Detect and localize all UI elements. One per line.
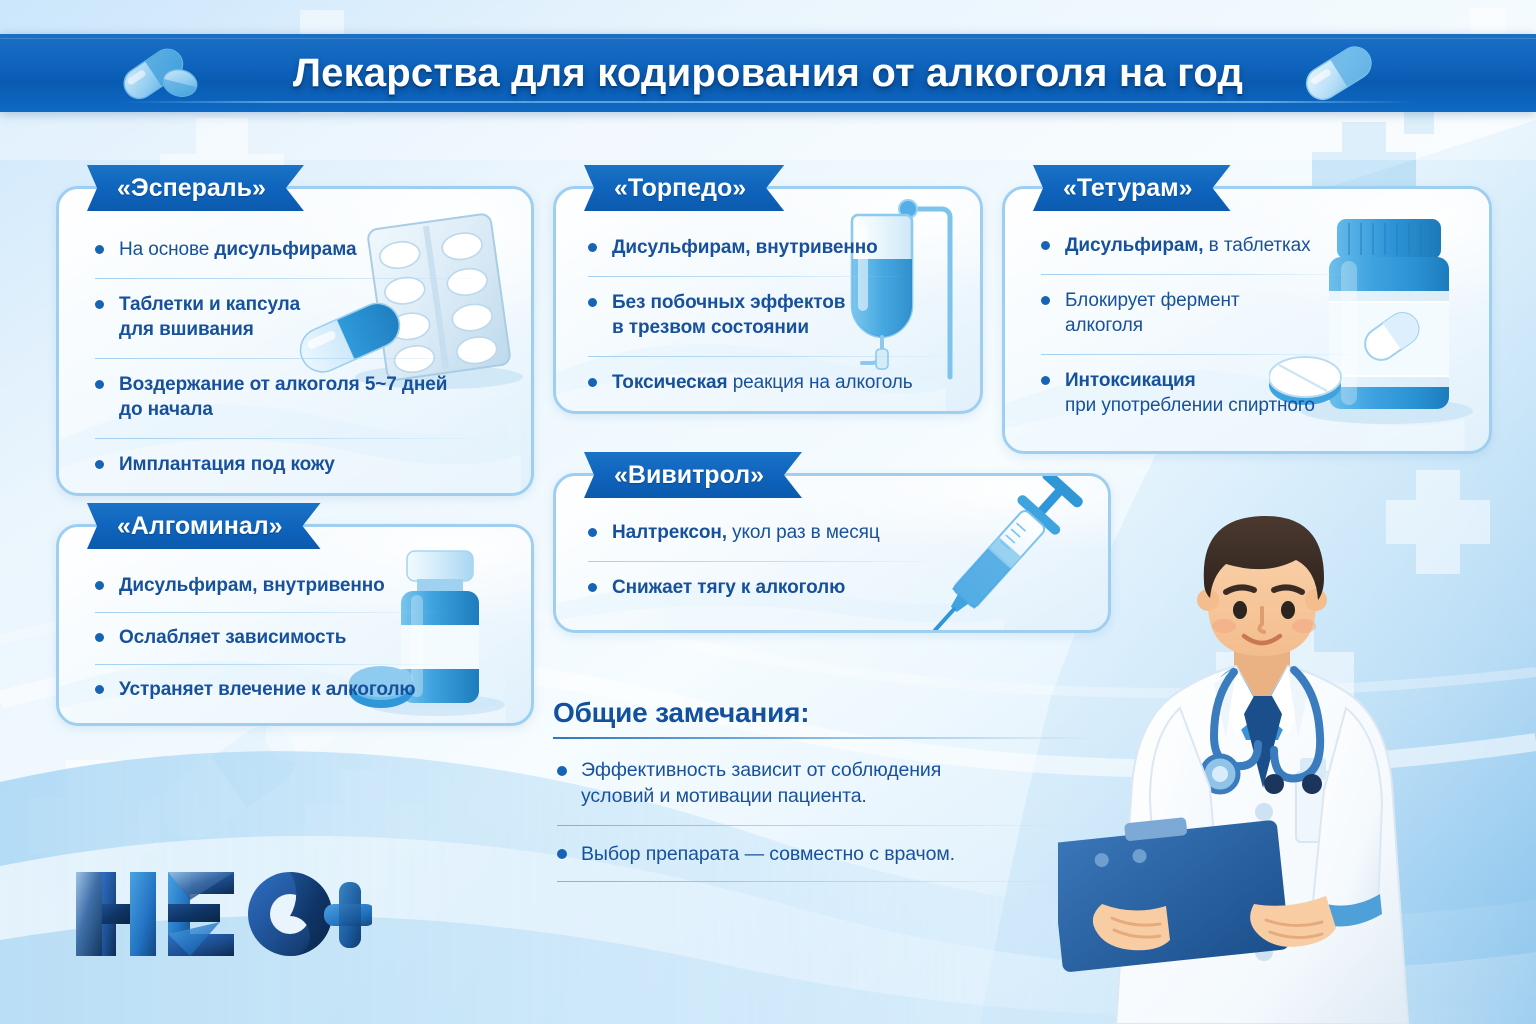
bullet-dot — [95, 581, 104, 590]
card-title-teturam: «Тетурам» — [1033, 165, 1231, 211]
note-line1: Эффективность зависит от соблюдения — [581, 759, 941, 781]
list-item: Налтрексон, укол раз в месяц — [586, 520, 952, 561]
card-title-algominal: «Алгоминал» — [87, 503, 321, 549]
item-line2: алкоголя — [1065, 315, 1143, 336]
list-item: Дисульфирам, в таблетках — [1039, 233, 1369, 274]
neo-plus-logo — [72, 866, 372, 962]
list-item: Дисульфирам, внутривенно — [93, 573, 453, 612]
list-item: Дисульфирам, внутривенно — [586, 235, 916, 276]
card-esperal: «Эспераль» — [56, 186, 534, 496]
notes-list: Эффективность зависит от соблюдения усло… — [553, 757, 1113, 881]
item-tail: Блокирует фермент — [1065, 290, 1240, 311]
item-bold: Дисульфирам, внутривенно — [612, 237, 878, 258]
capsule-pill-icon — [1301, 44, 1381, 102]
item-bold: Дисульфирам, внутривенно — [119, 575, 385, 596]
bullet-dot — [95, 300, 104, 309]
item-lead: На основе — [119, 239, 214, 260]
doctor-with-clipboard-illustration — [1058, 496, 1528, 1024]
card-title-torpedo: «Торпедо» — [584, 165, 784, 211]
bullet-dot — [557, 849, 567, 859]
bullet-dot — [95, 460, 104, 469]
list-item: Ослабляет зависимость — [93, 612, 453, 664]
feature-list-teturam: Дисульфирам, в таблетках Блокирует ферме… — [1039, 233, 1369, 418]
feature-list-vivitrol: Налтрексон, укол раз в месяц Снижает тяг… — [586, 520, 936, 600]
feature-list-algominal: Дисульфирам, внутривенно Ослабляет завис… — [93, 573, 453, 702]
card-vivitrol: «Вивитрол» — [553, 473, 1111, 633]
item-bold: дисульфирама — [214, 239, 356, 260]
item-bold: Имплантация под кожу — [119, 454, 335, 475]
bullet-dot — [95, 685, 104, 694]
note-line1: Выбор препарата — совместно с врачом. — [581, 843, 955, 865]
item-bold-line2: для вшивания — [119, 319, 254, 340]
card-teturam: «Тетурам» — [1002, 186, 1492, 454]
list-item: Выбор препарата — совместно с врачом. — [553, 825, 1113, 881]
item-bold-line2: в трезвом состоянии — [612, 317, 809, 338]
bullet-dot — [588, 378, 597, 387]
item-bold-line2: до начала — [119, 399, 213, 420]
list-item: Интоксикация при употреблении спиртного — [1039, 354, 1425, 418]
list-item: Снижает тягу к алкоголю — [586, 561, 936, 600]
card-torpedo: «Торпедо» — [553, 186, 983, 414]
item-bold: Устраняет влечение к алкоголю — [119, 679, 416, 700]
list-item: Без побочных эффектов в трезвом состояни… — [586, 276, 916, 356]
bullet-dot — [1041, 296, 1050, 305]
item-tail: в таблетках — [1209, 235, 1311, 256]
bullet-dot — [588, 298, 597, 307]
item-bold: Налтрексон, — [612, 522, 732, 543]
card-title-vivitrol: «Вивитрол» — [584, 452, 802, 498]
general-notes-section: Общие замечания: Эффективность зависит о… — [553, 697, 1113, 881]
item-bold: Таблетки и капсула — [119, 294, 300, 315]
feature-list-torpedo: Дисульфирам, внутривенно Без побочных эф… — [586, 235, 916, 395]
notes-divider — [553, 737, 1093, 739]
bullet-dot — [1041, 241, 1050, 250]
list-item: На основе дисульфирама — [93, 237, 497, 278]
item-tail: укол раз в месяц — [732, 522, 880, 543]
bullet-dot — [95, 633, 104, 642]
feature-list-esperal: На основе дисульфирама Таблетки и капсул… — [93, 237, 497, 477]
bullet-dot — [588, 528, 597, 537]
card-algominal: «Алгоминал» — [56, 524, 534, 726]
note-line2: условий и мотивации пациента. — [581, 785, 867, 807]
list-item: Воздержание от алкоголя 5~7 дней до нача… — [93, 358, 497, 438]
list-item: Токсическая реакция на алкоголь — [586, 356, 980, 395]
item-bold: Воздержание от алкоголя 5~7 дней — [119, 374, 447, 395]
infographic-poster: Лекарства для кодирования от алкоголя на… — [0, 0, 1536, 1024]
list-item: Имплантация под кожу — [93, 438, 497, 477]
bullet-dot — [588, 243, 597, 252]
bullet-dot — [557, 766, 567, 776]
item-bold: Ослабляет зависимость — [119, 627, 346, 648]
list-item: Таблетки и капсула для вшивания — [93, 278, 497, 358]
item-bold: Токсическая — [612, 372, 733, 393]
bullet-dot — [1041, 376, 1050, 385]
item-bold: Без побочных эффектов — [612, 292, 845, 313]
item-bold: Дисульфирам, — [1065, 235, 1209, 256]
notes-title: Общие замечания: — [553, 697, 1113, 729]
item-bold: Интоксикация — [1065, 370, 1196, 391]
item-line2: при употреблении спиртного — [1065, 395, 1315, 416]
bullet-dot — [588, 583, 597, 592]
page-title: Лекарства для кодирования от алкоголя на… — [293, 51, 1243, 96]
item-tail: реакция на алкоголь — [733, 372, 913, 393]
capsule-pill-icon — [118, 43, 202, 103]
page-header: Лекарства для кодирования от алкоголя на… — [0, 34, 1536, 112]
bullet-dot — [95, 245, 104, 254]
card-title-esperal: «Эспераль» — [87, 165, 304, 211]
list-item: Эффективность зависит от соблюдения усло… — [553, 757, 1113, 825]
list-item: Устраняет влечение к алкоголю — [93, 664, 509, 702]
list-item: Блокирует фермент алкоголя — [1039, 274, 1369, 354]
item-bold: Снижает тягу к алкоголю — [612, 577, 845, 598]
bullet-dot — [95, 380, 104, 389]
